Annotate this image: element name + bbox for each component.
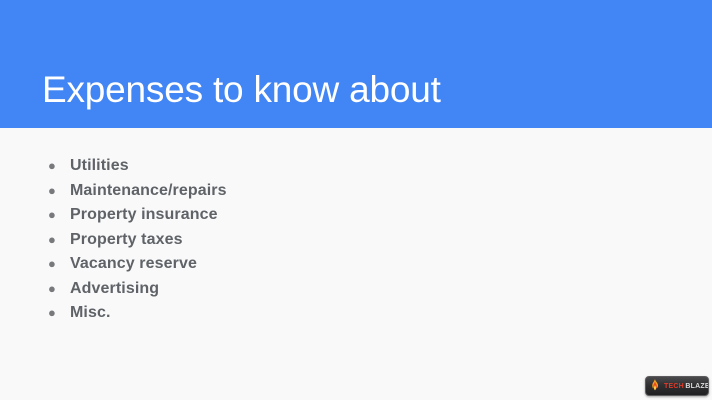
list-item: ● Misc. — [42, 301, 227, 326]
list-item-label: Advertising — [70, 277, 159, 302]
bullet-dot-icon: ● — [42, 301, 70, 326]
watermark-text-primary: TECH — [664, 383, 684, 390]
list-item: ● Property insurance — [42, 203, 227, 228]
presentation-slide: Expenses to know about ● Utilities ● Mai… — [0, 0, 712, 400]
watermark-badge: TECH BLAZES — [645, 376, 709, 396]
bullet-dot-icon: ● — [42, 277, 70, 302]
list-item: ● Maintenance/repairs — [42, 179, 227, 204]
watermark-text-secondary: BLAZES — [685, 383, 709, 390]
watermark-text: TECH BLAZES — [664, 383, 709, 390]
list-item-label: Property insurance — [70, 203, 218, 228]
flame-icon — [649, 379, 661, 393]
list-item: ● Advertising — [42, 277, 227, 302]
list-item: ● Utilities — [42, 154, 227, 179]
slide-header-band: Expenses to know about — [0, 0, 712, 128]
list-item-label: Misc. — [70, 301, 111, 326]
list-item-label: Utilities — [70, 154, 129, 179]
bullet-dot-icon: ● — [42, 203, 70, 228]
bullet-dot-icon: ● — [42, 179, 70, 204]
bullet-dot-icon: ● — [42, 154, 70, 179]
list-item: ● Property taxes — [42, 228, 227, 253]
expenses-bullet-list: ● Utilities ● Maintenance/repairs ● Prop… — [42, 154, 227, 326]
list-item-label: Maintenance/repairs — [70, 179, 227, 204]
bullet-dot-icon: ● — [42, 228, 70, 253]
list-item: ● Vacancy reserve — [42, 252, 227, 277]
slide-title: Expenses to know about — [42, 68, 441, 112]
slide-body: ● Utilities ● Maintenance/repairs ● Prop… — [0, 128, 712, 400]
bullet-dot-icon: ● — [42, 252, 70, 277]
list-item-label: Vacancy reserve — [70, 252, 197, 277]
list-item-label: Property taxes — [70, 228, 183, 253]
